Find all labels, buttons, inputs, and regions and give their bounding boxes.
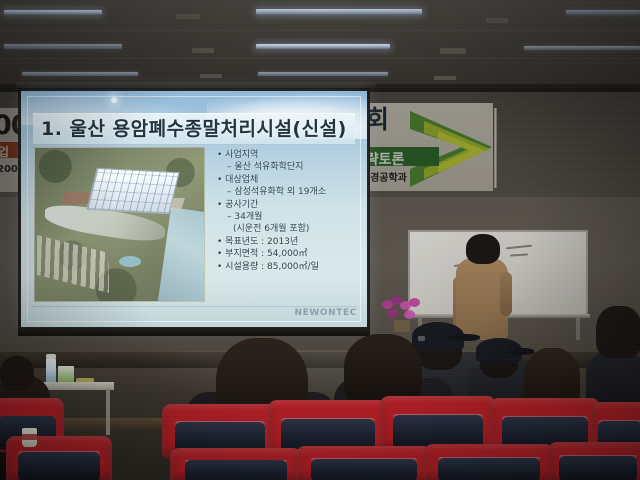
ceiling — [0, 0, 640, 92]
fluorescent-light-fixture — [566, 10, 640, 15]
slide-logo: NEWONTEC — [295, 308, 357, 318]
presentation-slide: 1. 울산 용암폐수종말처리시설(신설) • 사업지역 – 울산 석유화학단지 … — [21, 91, 367, 327]
seat-back — [185, 460, 288, 480]
paper-coffee-cup-band — [22, 434, 37, 440]
auditorium-seat[interactable] — [296, 446, 432, 480]
projector-hotspot — [111, 97, 117, 103]
flower-vase — [394, 320, 410, 332]
banner-left-band-text: 업 — [0, 143, 9, 160]
photo-pond — [119, 256, 141, 267]
attendee-head — [0, 356, 34, 390]
list-item: (시운전 6개월 포함) — [213, 223, 359, 235]
fluorescent-light-fixture — [258, 72, 388, 76]
presenter-head — [466, 234, 500, 264]
fluorescent-light-fixture — [4, 44, 122, 49]
photo-basin-grid — [88, 169, 179, 213]
list-item: • 사업지역 — [213, 149, 359, 161]
projection-screen: 1. 울산 용암폐수종말처리시설(신설) • 사업지역 – 울산 석유화학단지 … — [21, 91, 367, 327]
auditorium-seat[interactable] — [548, 442, 640, 480]
fluorescent-light-fixture — [4, 10, 102, 15]
flower-petal — [387, 309, 398, 318]
list-item: • 공사기간 — [213, 199, 359, 211]
flower-petal — [404, 310, 415, 319]
ceiling-vent — [486, 18, 508, 23]
ceiling-vent — [176, 14, 200, 19]
slide-title: 1. 울산 용암폐수종말처리시설(신설) — [41, 117, 347, 141]
list-item: • 대상업체 — [213, 174, 359, 186]
list-item: – 34개월 — [213, 211, 359, 223]
ceiling-vent — [200, 74, 222, 78]
fluorescent-light-fixture — [22, 72, 138, 76]
seat-back — [559, 456, 637, 480]
water-bottle-cap — [46, 354, 56, 359]
projection-screen-bottom-bar — [18, 327, 370, 336]
fluorescent-light-fixture — [256, 9, 422, 15]
cap-brim — [448, 334, 480, 341]
ceiling-vent — [434, 76, 456, 80]
list-item: • 시설용량 : 85,000㎡/일 — [213, 261, 359, 273]
slide-title-bar: 1. 울산 용암폐수종말처리시설(신설) — [33, 113, 355, 145]
cap-logo — [418, 336, 425, 341]
seat-back — [438, 458, 539, 480]
cap-brim — [508, 348, 534, 355]
photo-treatment-basins — [86, 168, 179, 214]
fluorescent-light-fixture — [524, 46, 640, 50]
seat-back — [311, 459, 417, 480]
flower-petal — [409, 298, 420, 307]
slide-aerial-photo — [34, 147, 205, 302]
flag-pole — [494, 108, 497, 188]
slide-bullet-list: • 사업지역 – 울산 석유화학단지 • 대상업체 – 삼성석유화학 외 19개… — [213, 149, 359, 273]
list-item: – 삼성석유화학 외 19개소 — [213, 186, 359, 198]
water-bottle — [46, 358, 56, 384]
lecture-hall-photo: 00 업 2009. 수회 공전략토론 학교 환경공학과 1. 울산 — [0, 0, 640, 480]
slide-footer-divider — [31, 306, 357, 307]
ceiling-vent — [440, 48, 466, 54]
auditorium-seat[interactable] — [170, 448, 302, 480]
presenter-right-arm — [500, 272, 512, 316]
auditorium-seat[interactable] — [424, 444, 554, 480]
attendee-head — [596, 306, 640, 358]
seat-back — [18, 452, 101, 480]
ceiling-vent — [192, 48, 214, 53]
list-item: • 목표년도 : 2013년 — [213, 236, 359, 248]
whiteboard-leg — [576, 318, 580, 340]
fluorescent-light-fixture — [256, 44, 390, 49]
list-item: – 울산 석유화학단지 — [213, 161, 359, 173]
side-table-leg — [106, 389, 110, 435]
list-item: • 부지면적 : 54,000㎡ — [213, 248, 359, 260]
